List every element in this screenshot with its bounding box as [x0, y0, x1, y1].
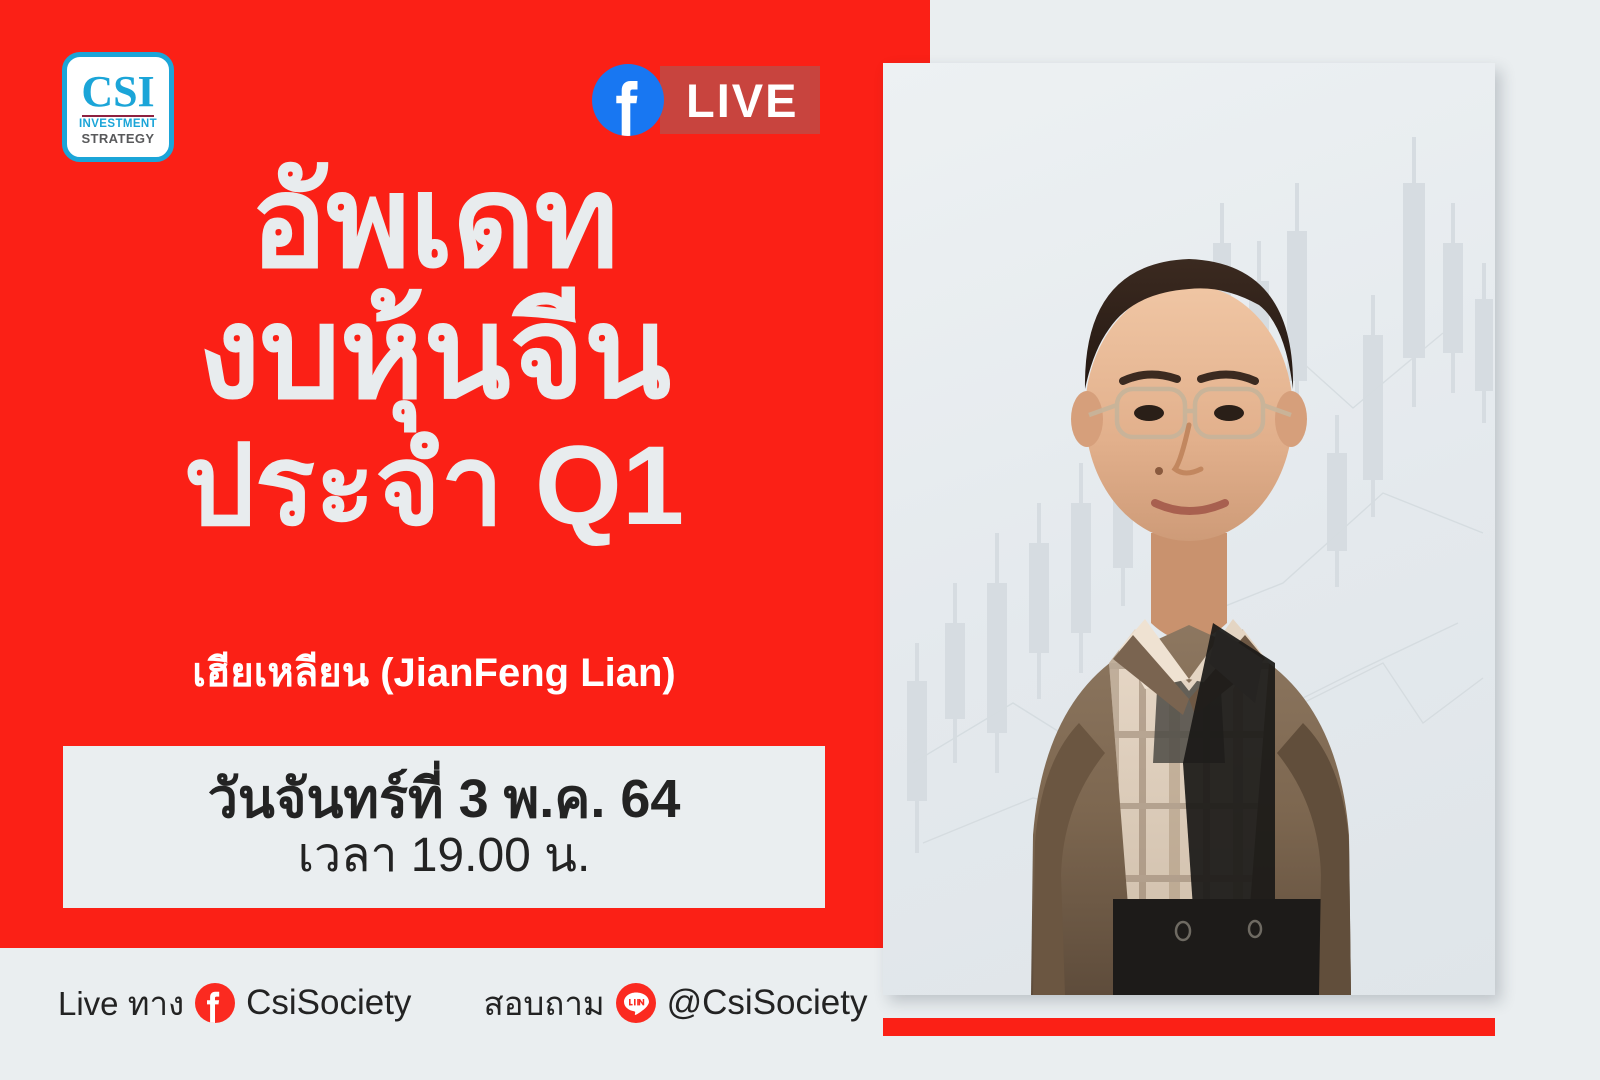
facebook-live-badge: LIVE — [592, 64, 820, 136]
logo-tagline-bottom: STRATEGY — [81, 131, 154, 146]
speaker-portrait — [883, 63, 1495, 995]
speaker-name: เฮียเหลียน (JianFeng Lian) — [0, 640, 868, 704]
logo-tagline-top: INVESTMENT — [79, 118, 157, 131]
facebook-circle-icon[interactable] — [195, 983, 235, 1023]
live-chip: LIVE — [660, 66, 820, 134]
footer-live-label: Live ทาง — [58, 977, 184, 1030]
footer-facebook-group[interactable]: Live ทาง CsiSociety — [58, 977, 411, 1030]
footer-bar: Live ทาง CsiSociety สอบถาม — [0, 968, 868, 1038]
headline-block: อัพเดท งบหุ้นจีน ประจำ Q1 — [0, 160, 868, 541]
headline-line-1: อัพเดท — [0, 160, 868, 285]
logo-wordmark: CSI — [81, 71, 154, 113]
footer-line-handle: @CsiSociety — [667, 983, 868, 1023]
facebook-icon — [592, 64, 664, 136]
csi-logo: CSI INVESTMENT STRATEGY — [62, 52, 174, 162]
line-app-icon[interactable] — [616, 983, 656, 1023]
photo-accent-bar — [883, 1018, 1495, 1036]
footer-facebook-handle: CsiSociety — [246, 983, 411, 1023]
schedule-time: เวลา 19.00 น. — [298, 828, 591, 885]
live-label: LIVE — [686, 77, 798, 124]
speaker-photo-card — [883, 63, 1495, 995]
logo-divider — [82, 115, 154, 117]
schedule-card: วันจันทร์ที่ 3 พ.ค. 64 เวลา 19.00 น. — [63, 746, 825, 908]
poster-canvas: CSI INVESTMENT STRATEGY LIVE อัพเดท งบหุ… — [0, 0, 1600, 1080]
headline-line-2: งบหุ้นจีน — [0, 291, 868, 416]
footer-contact-label: สอบถาม — [483, 977, 604, 1030]
headline-line-3: ประจำ Q1 — [0, 431, 868, 541]
schedule-date: วันจันทร์ที่ 3 พ.ค. 64 — [208, 770, 681, 828]
footer-line-group[interactable]: สอบถาม @CsiSociety — [483, 977, 867, 1030]
